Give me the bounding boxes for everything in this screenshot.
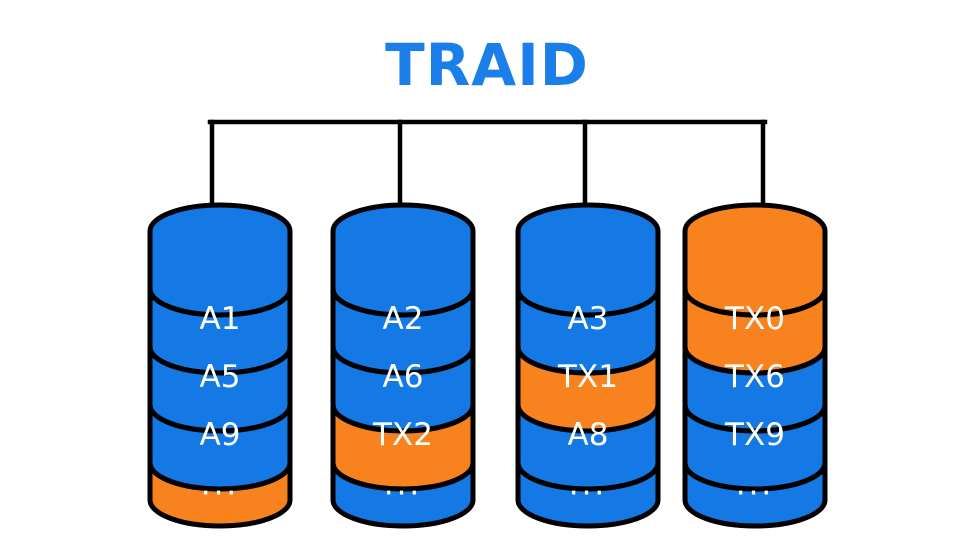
disk-band-3-0[interactable] bbox=[518, 205, 658, 315]
diagram-canvas: TRAID A1A5A9...A2A6TX2...A3TX1A8...TX0TX… bbox=[0, 0, 975, 551]
disk-band-label: ... bbox=[201, 467, 240, 503]
disk-band-label: A1 bbox=[200, 301, 241, 337]
disk-band-4-0[interactable] bbox=[685, 205, 825, 315]
page-title: TRAID bbox=[385, 31, 589, 99]
disk-band-label: ... bbox=[384, 467, 423, 503]
disk-band-label: A9 bbox=[200, 417, 241, 453]
connector-lines bbox=[210, 122, 765, 234]
disk-band-1-0[interactable] bbox=[150, 205, 290, 315]
disk-band-label: A6 bbox=[383, 359, 424, 395]
disk-band-label: A5 bbox=[200, 359, 241, 395]
disk-band-label: TX6 bbox=[724, 359, 785, 395]
disk-array: A1A5A9...A2A6TX2...A3TX1A8...TX0TX6TX9..… bbox=[150, 205, 825, 526]
disk-cylinder-3[interactable]: A3TX1A8... bbox=[518, 205, 658, 526]
disk-band-label: TX0 bbox=[724, 301, 785, 337]
disk-band-label: TX2 bbox=[372, 417, 433, 453]
disk-cylinder-2[interactable]: A2A6TX2... bbox=[333, 205, 473, 526]
disk-band-label: A3 bbox=[568, 301, 609, 337]
traid-diagram: TRAID A1A5A9...A2A6TX2...A3TX1A8...TX0TX… bbox=[0, 0, 975, 551]
disk-cylinder-4[interactable]: TX0TX6TX9... bbox=[685, 205, 825, 526]
disk-band-label: ... bbox=[569, 467, 608, 503]
disk-band-label: ... bbox=[736, 467, 775, 503]
disk-band-2-0[interactable] bbox=[333, 205, 473, 315]
disk-band-label: TX1 bbox=[557, 359, 618, 395]
disk-band-label: A8 bbox=[568, 417, 609, 453]
disk-band-label: TX9 bbox=[724, 417, 785, 453]
disk-band-label: A2 bbox=[383, 301, 424, 337]
disk-cylinder-1[interactable]: A1A5A9... bbox=[150, 205, 290, 526]
